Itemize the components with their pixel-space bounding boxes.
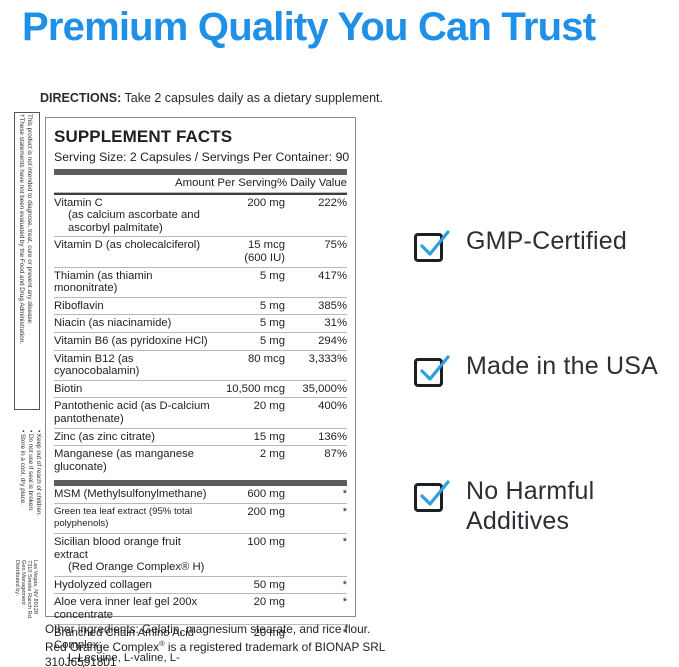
ingredient-name: Vitamin B12 (as cyanocobalamin) [54,350,211,380]
table-row: Sicilian blood orange fruit extract(Red … [54,534,347,577]
ingredient-name: Aloe vera inner leaf gel 200x concentrat… [54,594,211,624]
ingredient-amount: 5 mg [211,332,285,350]
feature-item-made-in-usa: Made in the USA [412,351,658,390]
header-blank [54,175,175,192]
trademark-tail: is a registered trademark of BIONAP SRL [165,640,386,654]
facts-header-row: Amount Per Serving % Daily Value [54,175,347,192]
ingredient-amount: 600 mg [211,486,285,503]
storage-bullet-1: • Store in a cool, dry place. [19,430,26,505]
storage-bullet-3: • Keep out of reach of children. [35,430,42,516]
ingredient-name: Riboflavin [54,297,211,315]
feature-label: No Harmful Additives [466,476,594,536]
serving-size: Serving Size: 2 Capsules / Servings Per … [54,150,347,164]
ingredient-daily-value: 31% [285,315,347,333]
checkbox-checked-icon [412,229,448,265]
check-mark-icon [417,479,451,513]
fda-disclaimer-line-2: This product is not intended to diagnose… [26,114,33,325]
table-row: Biotin10,500 mcg35,000% [54,380,347,398]
ingredient-name: Vitamin D (as cholecalciferol) [54,237,211,267]
ingredient-amount: 20 mg [211,594,285,624]
ingredient-name: Vitamin B6 (as pyridoxine HCl) [54,332,211,350]
directions-body: Take 2 capsules daily as a dietary suppl… [121,91,383,105]
feature-label: GMP-Certified [466,226,627,256]
directions-text: DIRECTIONS: Take 2 capsules daily as a d… [40,91,383,105]
ingredient-daily-value: 417% [285,267,347,297]
feature-item-gmp: GMP-Certified [412,226,627,265]
table-row: Aloe vera inner leaf gel 200x concentrat… [54,594,347,624]
table-row: Green tea leaf extract (95% total polyph… [54,503,347,533]
ingredient-amount: 100 mg [211,534,285,577]
table-row: Vitamin D (as cholecalciferol)15 mcg(600… [54,237,347,267]
ingredient-daily-value: 222% [285,195,347,237]
header-amount: Amount Per Serving [175,175,277,192]
ingredient-name: Sicilian blood orange fruit extract(Red … [54,534,211,577]
table-row: Pantothenic acid (as D-calcium pantothen… [54,398,347,428]
ingredient-daily-value: 75% [285,237,347,267]
trademark-text: Red Orange Complex® is a registered trad… [45,639,385,654]
ingredient-name: Niacin (as niacinamide) [54,315,211,333]
ingredient-name: MSM (Methylsulfonylmethane) [54,486,211,503]
side-disclaimer-column: †These statements have not been evaluate… [6,112,40,662]
facts-table: Amount Per Serving % Daily Value [54,175,347,193]
ingredient-daily-value: * [285,486,347,503]
facts-table-group-1: Vitamin C(as calcium ascorbate and ascor… [54,195,347,476]
table-row: Thiamin (as thiamin mononitrate)5 mg417% [54,267,347,297]
ingredient-name: Vitamin C(as calcium ascorbate and ascor… [54,195,211,237]
feature-item-no-additives: No Harmful Additives [412,476,594,536]
ingredient-daily-value: 136% [285,428,347,446]
ingredient-amount: 50 mg [211,576,285,594]
fda-disclaimer-line-1: †These statements have not been evaluate… [18,114,25,344]
ingredient-daily-value: 3,333% [285,350,347,380]
checkbox-checked-icon [412,479,448,515]
table-row: Hydolyzed collagen50 mg* [54,576,347,594]
ingredient-name: Thiamin (as thiamin mononitrate) [54,267,211,297]
directions-label: DIRECTIONS: [40,91,121,105]
ingredient-subtext: (Red Orange Complex® H) [54,561,211,574]
header-dv: % Daily Value [277,175,347,192]
facts-rows-vitamins: Vitamin C(as calcium ascorbate and ascor… [54,195,347,476]
ingredient-daily-value: * [285,594,347,624]
ingredient-amount: 200 mg [211,503,285,533]
ingredient-daily-value: 87% [285,446,347,476]
ingredient-subtext: (as calcium ascorbate and ascorbyl palmi… [54,209,211,234]
checkbox-checked-icon [412,354,448,390]
facts-table-body: Amount Per Serving % Daily Value [54,175,347,192]
ingredient-amount: 5 mg [211,297,285,315]
supplement-facts-panel: SUPPLEMENT FACTS Serving Size: 2 Capsule… [45,117,356,617]
ingredient-name: Zinc (as zinc citrate) [54,428,211,446]
ingredient-amount-secondary: (600 IU) [211,252,285,265]
table-row: MSM (Methylsulfonylmethane)600 mg* [54,486,347,503]
storage-bullet-2: • Do not use if seal is broken. [27,430,34,512]
other-ingredients-text: Other ingredients: Gelatin, magnesium st… [45,622,370,636]
ingredient-amount: 15 mg [211,428,285,446]
table-row: Vitamin B12 (as cyanocobalamin)80 mcg3,3… [54,350,347,380]
ingredient-amount: 20 mg [211,398,285,428]
ingredient-daily-value: * [285,534,347,577]
table-row: Vitamin C(as calcium ascorbate and ascor… [54,195,347,237]
ingredient-name: Hydolyzed collagen [54,576,211,594]
check-mark-icon [417,229,451,263]
ingredient-amount: 2 mg [211,446,285,476]
ingredient-daily-value: 400% [285,398,347,428]
lot-code: 310J6591801 [45,655,117,667]
ingredient-name: Biotin [54,380,211,398]
page-title: Premium Quality You Can Trust [22,2,672,52]
check-mark-icon [417,354,451,388]
ingredient-daily-value: 35,000% [285,380,347,398]
ingredient-daily-value: 385% [285,297,347,315]
ingredient-name: Pantothenic acid (as D-calcium pantothen… [54,398,211,428]
ingredient-amount: 200 mg [211,195,285,237]
ingredient-name: Green tea leaf extract (95% total polyph… [54,503,211,533]
ingredient-daily-value: * [285,576,347,594]
ingredient-amount: 5 mg [211,315,285,333]
feature-label: Made in the USA [466,351,658,381]
table-row: Niacin (as niacinamide)5 mg31% [54,315,347,333]
ingredient-name: Manganese (as manganese gluconate) [54,446,211,476]
panel-title: SUPPLEMENT FACTS [54,127,347,147]
table-row: Manganese (as manganese gluconate)2 mg87… [54,446,347,476]
supplement-label-page: Premium Quality You Can Trust DIRECTIONS… [0,0,679,667]
table-row: Vitamin B6 (as pyridoxine HCl)5 mg294% [54,332,347,350]
ingredient-daily-value: 294% [285,332,347,350]
distributor-line-4: Las Vegas, NV 89128 [31,560,38,614]
table-row: Zinc (as zinc citrate)15 mg136% [54,428,347,446]
trademark-name: Red Orange Complex [45,640,159,654]
ingredient-daily-value: * [285,503,347,533]
ingredient-amount: 15 mcg(600 IU) [211,237,285,267]
ingredient-amount: 80 mcg [211,350,285,380]
ingredient-amount: 5 mg [211,267,285,297]
ingredient-amount: 10,500 mcg [211,380,285,398]
table-row: Riboflavin5 mg385% [54,297,347,315]
